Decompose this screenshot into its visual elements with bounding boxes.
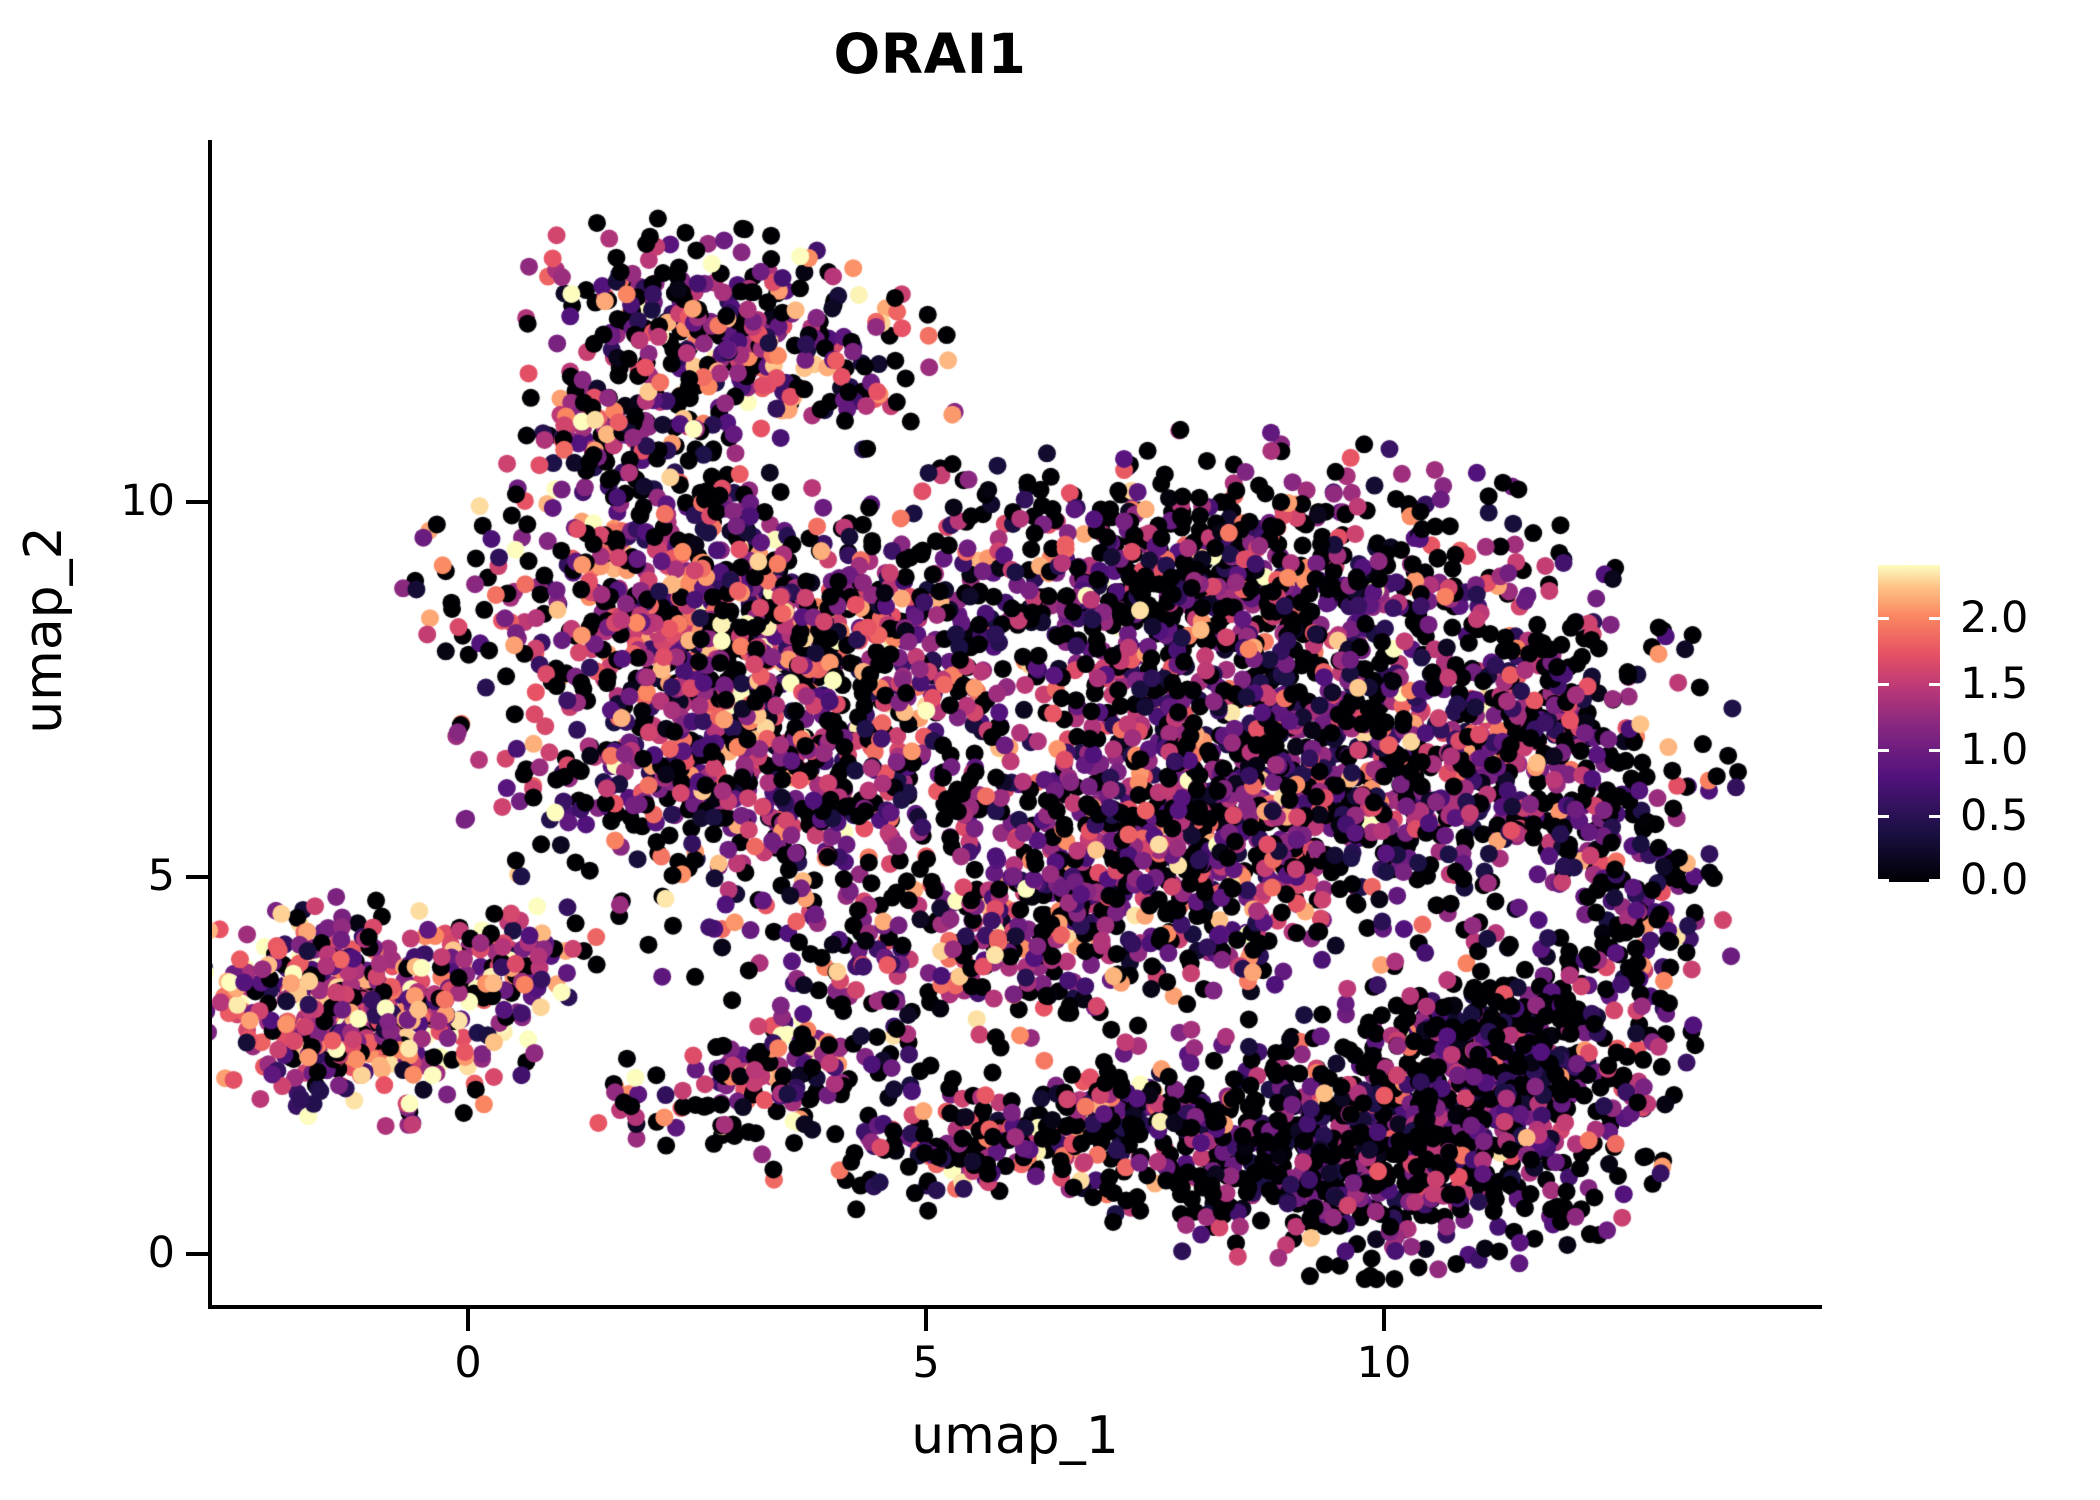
figure: ORAI1 10 5 0 0 5 10 umap_2 umap_1 2.0 1.… [0, 0, 2100, 1500]
y-tick-10 [186, 500, 208, 504]
scatter-points-canvas [208, 140, 1820, 1305]
colorbar-label-0.5: 0.5 [1960, 791, 2028, 841]
chart-title: ORAI1 [0, 22, 1860, 86]
colorbar-tick-0.0-right [1929, 879, 1940, 882]
x-axis-spine [208, 1305, 1822, 1309]
colorbar-label-1.5: 1.5 [1960, 659, 2028, 709]
y-ticklabel-5: 5 [148, 851, 175, 901]
y-tick-5 [186, 875, 208, 879]
y-axis-label: umap_2 [14, 350, 74, 910]
x-ticklabel-5: 5 [912, 1338, 939, 1388]
colorbar-label-1.0: 1.0 [1960, 725, 2028, 775]
colorbar-label-2.0: 2.0 [1960, 593, 2028, 643]
y-ticklabel-0: 0 [148, 1228, 175, 1278]
x-axis-label: umap_1 [208, 1406, 1822, 1466]
x-tick-0 [466, 1309, 470, 1331]
colorbar-tick-1.5-right [1929, 683, 1940, 686]
x-ticklabel-10: 10 [1357, 1338, 1412, 1388]
colorbar-tick-0.0-left [1878, 879, 1889, 882]
colorbar-gradient [1878, 565, 1940, 882]
x-tick-10 [1382, 1309, 1386, 1331]
colorbar-tick-0.5-right [1929, 815, 1940, 818]
colorbar-label-0.0: 0.0 [1960, 855, 2028, 905]
colorbar-tick-2.0-right [1929, 617, 1940, 620]
colorbar-tick-0.5-left [1878, 815, 1889, 818]
colorbar-tick-1.0-right [1929, 749, 1940, 752]
colorbar-tick-1.0-left [1878, 749, 1889, 752]
colorbar-tick-1.5-left [1878, 683, 1889, 686]
colorbar-tick-2.0-left [1878, 617, 1889, 620]
x-ticklabel-0: 0 [454, 1338, 481, 1388]
colorbar: 2.0 1.5 1.0 0.5 0.0 [1878, 565, 2078, 885]
y-tick-0 [186, 1252, 208, 1256]
scatter-plot-area[interactable] [208, 140, 1820, 1305]
y-axis-spine [208, 140, 212, 1309]
y-ticklabel-10: 10 [120, 476, 175, 526]
x-tick-5 [924, 1309, 928, 1331]
